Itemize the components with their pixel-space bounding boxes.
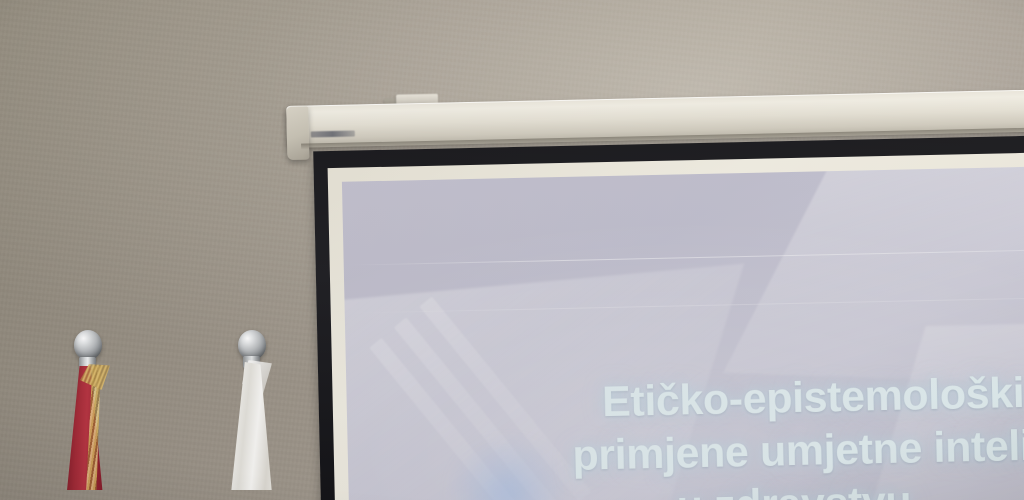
screen-masking-border: Etičko-epistemološki a primjene umjetne … xyxy=(313,135,1024,500)
white-flag xyxy=(228,330,292,500)
flagpole-finial-ball-icon xyxy=(74,330,102,360)
conference-room-scene: Etičko-epistemološki a primjene umjetne … xyxy=(0,0,1024,500)
housing-end-cap xyxy=(286,106,309,160)
projected-slide: Etičko-epistemološki a primjene umjetne … xyxy=(342,163,1024,500)
white-flag-cloth xyxy=(228,362,284,490)
brand-logo-mark xyxy=(311,131,355,138)
red-flag xyxy=(66,330,126,500)
projection-screen-assembly[interactable]: Etičko-epistemološki a primjene umjetne … xyxy=(286,79,1024,500)
slide-title: Etičko-epistemološki a primjene umjetne … xyxy=(346,363,1024,500)
screen-fabric: Etičko-epistemološki a primjene umjetne … xyxy=(328,151,1024,500)
